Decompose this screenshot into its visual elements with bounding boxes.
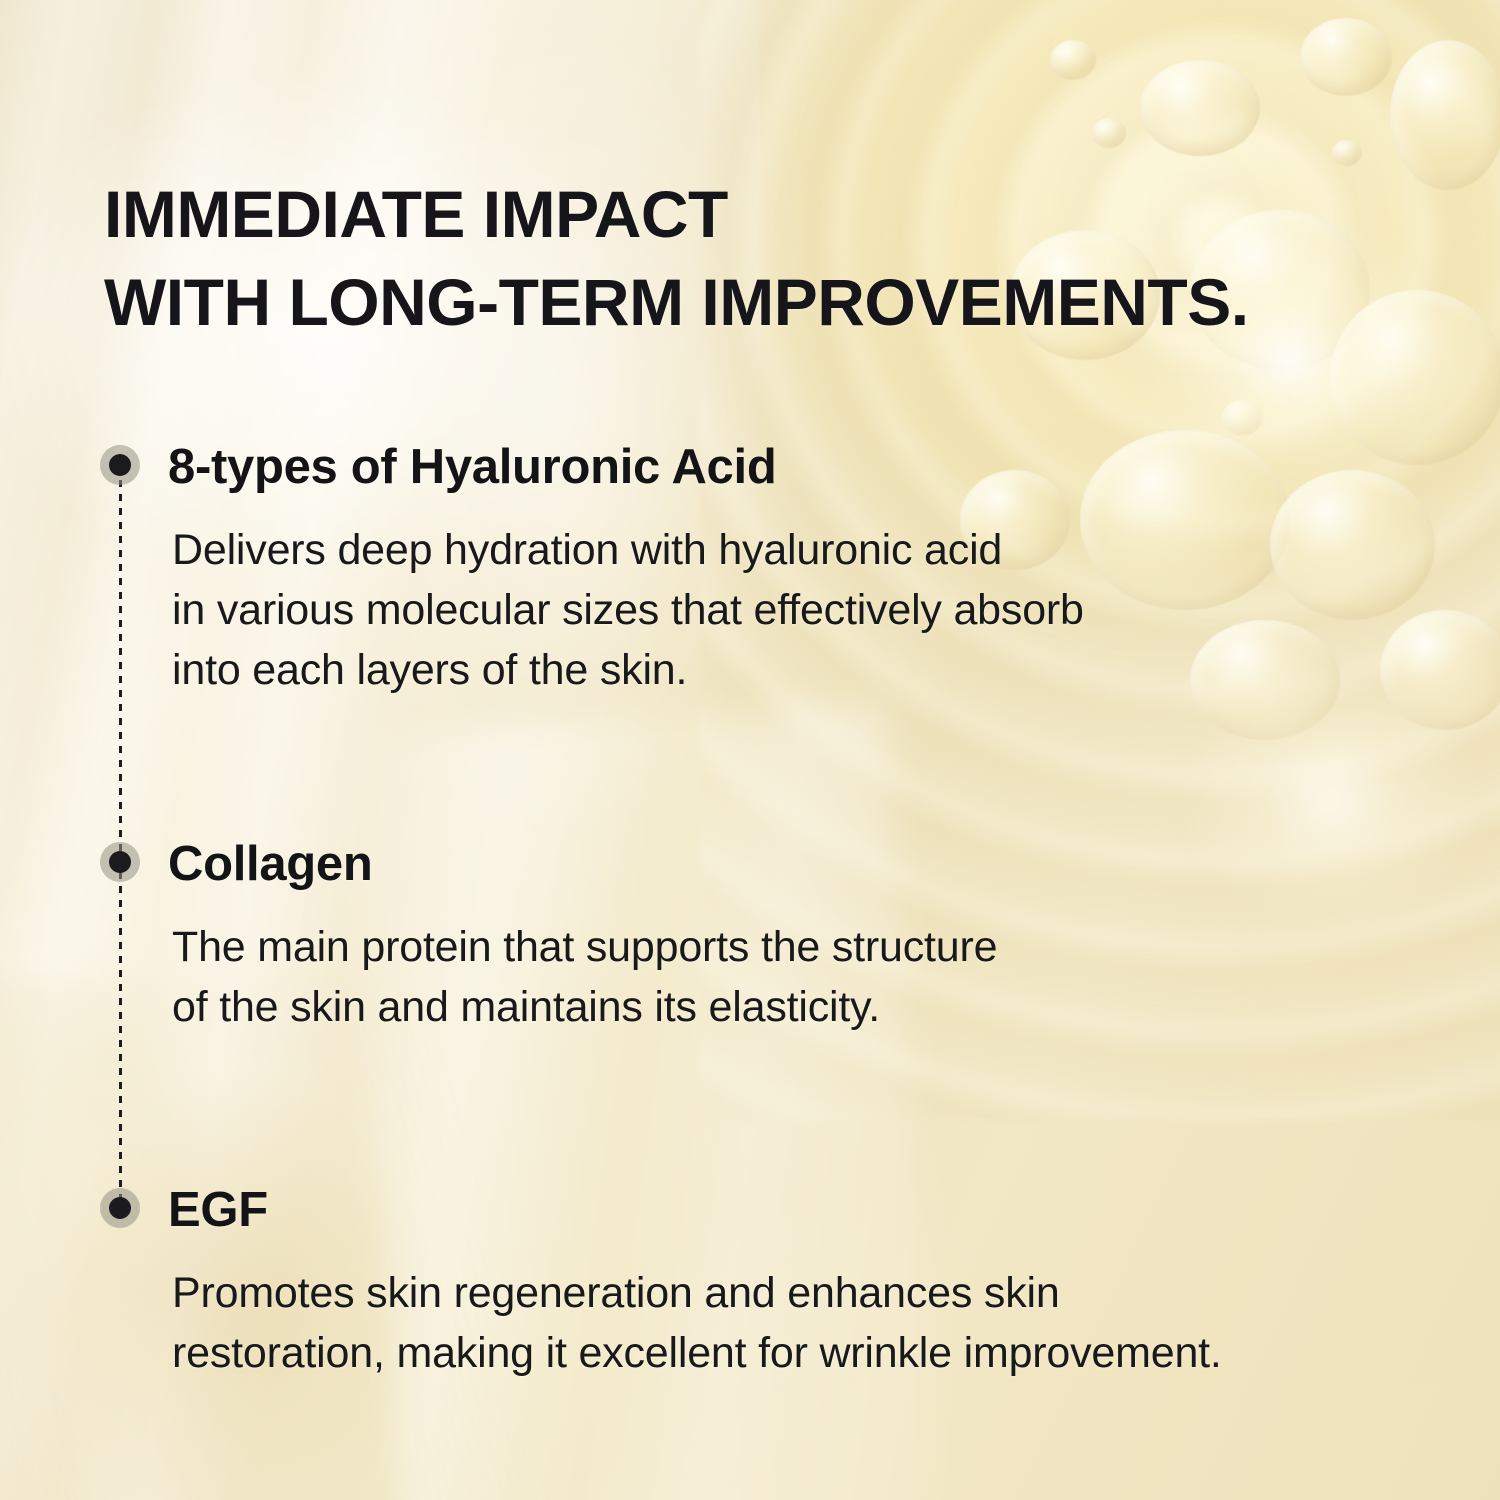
feature-description: The main protein that supports the struc…	[172, 917, 997, 1037]
bullet-dot-icon	[100, 445, 140, 485]
feature-title: EGF	[168, 1186, 268, 1235]
bullet-dot-icon	[100, 842, 140, 882]
feature-description: Delivers deep hydration with hyaluronic …	[172, 520, 1084, 700]
feature-title: Collagen	[168, 840, 373, 889]
feature-title: 8-types of Hyaluronic Acid	[168, 443, 776, 492]
page-title: IMMEDIATE IMPACT WITH LONG-TERM IMPROVEM…	[104, 171, 1444, 347]
product-feature-graphic: IMMEDIATE IMPACT WITH LONG-TERM IMPROVEM…	[0, 0, 1500, 1500]
content-area: IMMEDIATE IMPACT WITH LONG-TERM IMPROVEM…	[0, 0, 1500, 1500]
bullet-dot-icon	[100, 1188, 140, 1228]
feature-description: Promotes skin regeneration and enhances …	[172, 1263, 1222, 1383]
